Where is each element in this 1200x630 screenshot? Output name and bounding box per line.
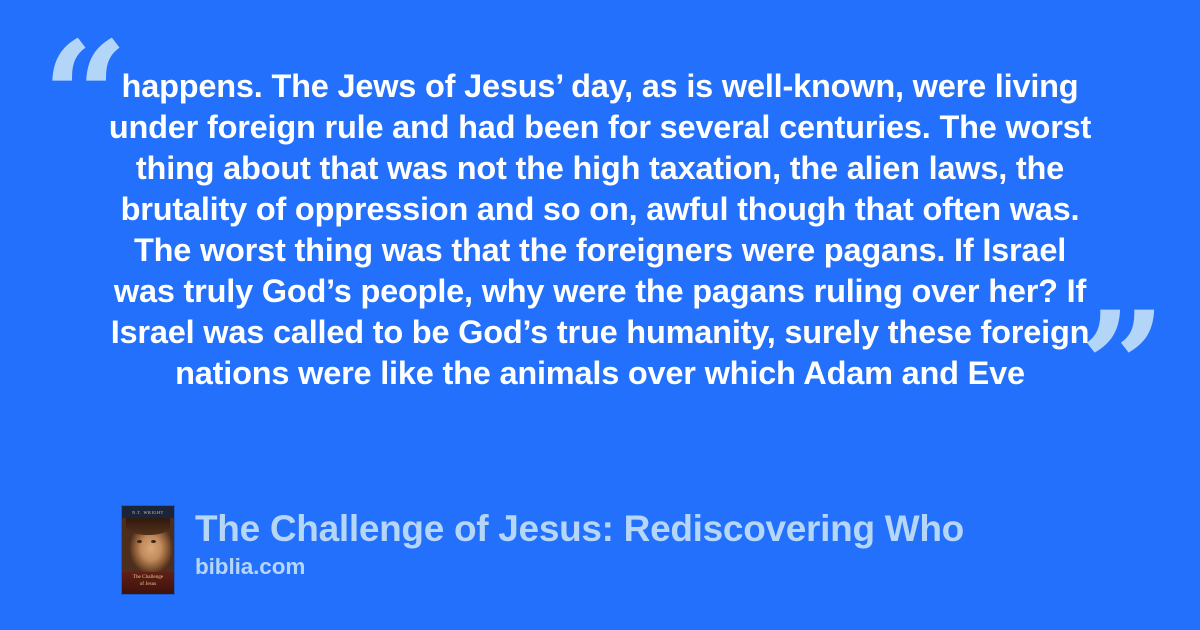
quote-line: Israel was called to be God’s true human… (100, 312, 1100, 353)
source-domain: biblia.com (195, 553, 964, 581)
book-cover-author-band: N.T. WRIGHT (122, 506, 174, 518)
book-title: The Challenge of Jesus: Rediscovering Wh… (195, 507, 964, 551)
book-cover-thumbnail: N.T. WRIGHT The Challenge of Jesus (122, 506, 174, 594)
quote-line: happens. The Jews of Jesus’ day, as is w… (100, 66, 1100, 107)
quote-text: happens. The Jews of Jesus’ day, as is w… (100, 66, 1100, 394)
quote-line: brutality of oppression and so on, awful… (100, 189, 1100, 230)
quote-line: was truly God’s people, why were the pag… (100, 271, 1100, 312)
attribution-text: The Challenge of Jesus: Rediscovering Wh… (195, 506, 964, 581)
portrait-eye-right (151, 540, 156, 543)
book-cover-author-label: N.T. WRIGHT (132, 510, 164, 515)
quote-line: nations were like the animals over which… (100, 353, 1100, 394)
book-cover-title-band: The Challenge of Jesus (122, 572, 174, 594)
portrait-eye-left (137, 540, 142, 543)
portrait-hair (126, 518, 170, 535)
quote-line: under foreign rule and had been for seve… (100, 107, 1100, 148)
book-cover-title-line: The Challenge (125, 574, 171, 581)
quote-card: “ ” happens. The Jews of Jesus’ day, as … (0, 0, 1200, 630)
book-cover-portrait (122, 518, 174, 572)
quote-line: The worst thing was that the foreigners … (100, 230, 1100, 271)
quote-line: thing about that was not the high taxati… (100, 148, 1100, 189)
book-cover-title-line: of Jesus (125, 581, 171, 588)
attribution-footer: N.T. WRIGHT The Challenge of Jesus The C… (122, 506, 964, 594)
